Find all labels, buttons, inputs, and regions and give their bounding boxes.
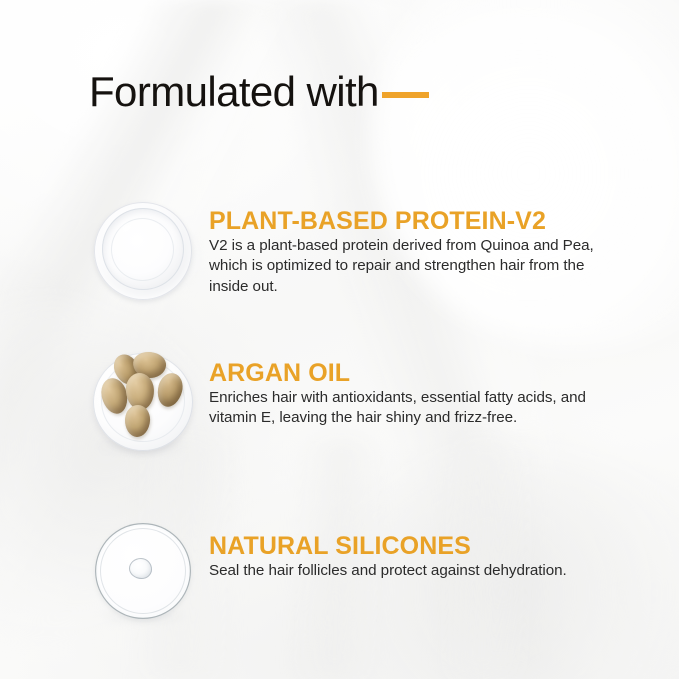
ingredient-item: PLANT-BASED PROTEIN-V2 V2 is a plant-bas… — [86, 195, 599, 309]
ingredient-description: V2 is a plant-based protein derived from… — [209, 236, 599, 298]
page-title-text: Formulated with — [89, 71, 379, 113]
ingredient-description: Enriches hair with antioxidants, essenti… — [209, 388, 599, 430]
ingredient-name: ARGAN OIL — [209, 360, 599, 387]
argan-nuts-dish-icon — [92, 350, 195, 453]
page-title: Formulated with — [89, 71, 429, 113]
ingredient-image-argan-oil — [86, 345, 200, 459]
ingredient-description: Seal the hair follicles and protect agai… — [209, 561, 599, 582]
ingredient-item: ARGAN OIL Enriches hair with antioxidant… — [86, 345, 599, 459]
silicone-droplet-dish-icon — [92, 520, 195, 623]
title-accent-dash — [382, 92, 429, 98]
clear-glass-dish-icon — [92, 200, 195, 303]
ingredient-item: NATURAL SILICONES Seal the hair follicle… — [86, 515, 599, 629]
ingredient-text-block: NATURAL SILICONES Seal the hair follicle… — [209, 515, 599, 581]
ingredient-text-block: ARGAN OIL Enriches hair with antioxidant… — [209, 345, 599, 429]
ingredient-name: PLANT-BASED PROTEIN-V2 — [209, 208, 599, 235]
product-ingredients-panel: Formulated with PLANT-BASED PROTEIN-V2 V… — [0, 0, 679, 679]
silicone-droplet — [129, 558, 152, 579]
ingredient-image-plant-based-protein — [86, 195, 200, 309]
ingredient-image-natural-silicones — [86, 515, 200, 629]
ingredient-text-block: PLANT-BASED PROTEIN-V2 V2 is a plant-bas… — [209, 195, 599, 298]
ingredient-name: NATURAL SILICONES — [209, 533, 599, 560]
